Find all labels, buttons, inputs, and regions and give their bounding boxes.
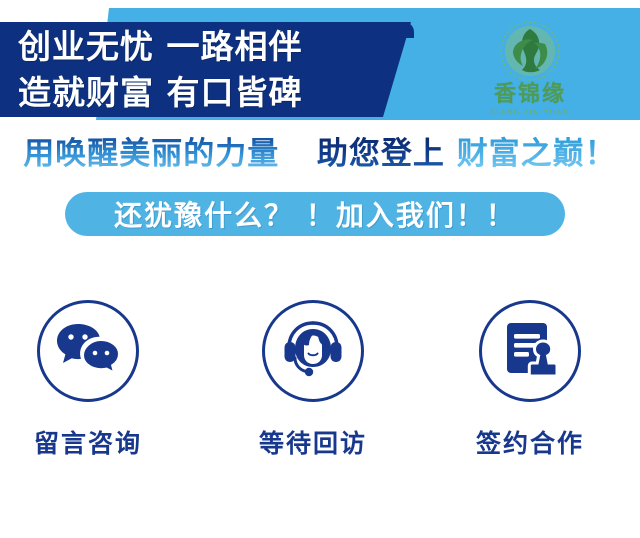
banner-header: 创业无忧 一路相伴 造就财富 有口皆碑 香锦缘 XIANG JIN YUAN: [0, 0, 640, 122]
feature-circle-1: [37, 300, 139, 402]
feature-item-message-consult[interactable]: 留言咨询: [0, 300, 183, 460]
sub-headline-part-c: 财富之巅！: [457, 136, 617, 172]
feature-circle-3: [479, 300, 581, 402]
feature-item-callback-wait[interactable]: 等待回访: [218, 300, 408, 460]
feature-circle-2: [262, 300, 364, 402]
feature-label-2: 等待回访: [218, 424, 408, 460]
sub-headline-part-b: 助您登上: [317, 136, 445, 172]
banner-headline: 创业无忧 一路相伴 造就财富 有口皆碑: [18, 24, 418, 116]
join-us-cta-label: 还犹豫什么？ ！加入我们！！: [114, 194, 516, 234]
contract-stamp-icon: [499, 321, 561, 381]
promo-banner-page: 创业无忧 一路相伴 造就财富 有口皆碑 香锦缘 XIANG JIN YUAN 用…: [0, 0, 640, 538]
brand-logo: 香锦缘 XIANG JIN YUAN: [478, 20, 582, 118]
sub-headline-part-a: 用唤醒美丽的力量: [23, 136, 279, 172]
feature-row: 留言咨询 等待回访: [0, 300, 640, 500]
headset-agent-icon: [281, 320, 345, 382]
logo-name: 香锦缘: [478, 83, 582, 107]
join-us-cta-button[interactable]: 还犹豫什么？ ！加入我们！！: [65, 192, 565, 236]
feature-label-3: 签约合作: [435, 424, 625, 460]
feature-label-1: 留言咨询: [0, 424, 183, 460]
headline-line-2: 造就财富 有口皆碑: [18, 70, 418, 116]
headline-line-1: 创业无忧 一路相伴: [18, 24, 418, 70]
chat-bubbles-icon: [55, 322, 121, 380]
phoenix-emblem-icon: [499, 20, 561, 82]
sub-headline: 用唤醒美丽的力量 助您登上 财富之巅！: [0, 126, 640, 182]
logo-pinyin: XIANG JIN YUAN: [478, 109, 582, 116]
feature-item-sign-contract[interactable]: 签约合作: [435, 300, 625, 460]
